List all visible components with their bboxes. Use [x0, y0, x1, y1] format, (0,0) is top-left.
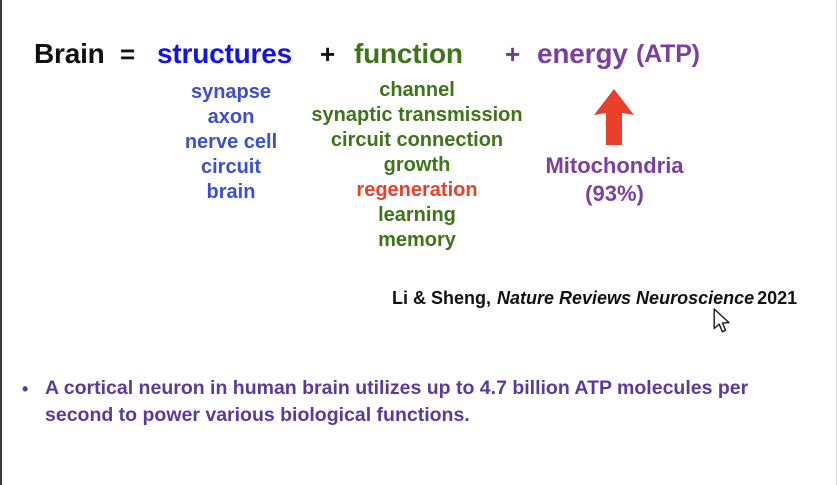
function-word: circuit connection [297, 128, 537, 153]
bullet-list: • A cortical neuron in human brain utili… [16, 375, 816, 429]
equation-term-brain: Brain [34, 38, 105, 70]
citation-year: 2021 [757, 288, 797, 308]
equation-operator-equals: = [120, 38, 135, 70]
mitochondria-block: Mitochondria (93%) [502, 152, 727, 208]
function-word: memory [297, 228, 537, 253]
equation-term-function: function [354, 38, 463, 70]
structures-word: axon [150, 105, 312, 130]
slide-canvas: Brain = structures + function + energy (… [0, 0, 837, 485]
structures-word: brain [150, 180, 312, 205]
structures-word: nerve cell [150, 130, 312, 155]
structures-word: circuit [150, 155, 312, 180]
mitochondria-percentage: (93%) [502, 180, 727, 208]
function-word: synaptic transmission [297, 103, 537, 128]
citation-journal: Nature Reviews Neuroscience [491, 288, 757, 308]
mitochondria-label: Mitochondria [502, 152, 727, 180]
equation-term-atp: (ATP) [636, 38, 700, 70]
equation-term-energy: energy [537, 38, 628, 70]
equation-row: Brain = structures + function + energy (… [2, 38, 836, 78]
bullet-marker: • [22, 376, 28, 403]
function-word-highlighted: regeneration [297, 178, 537, 203]
function-word-list: channel synaptic transmission circuit co… [297, 78, 537, 253]
up-arrow-icon [591, 88, 637, 146]
function-word: growth [297, 153, 537, 178]
equation-term-structures: structures [157, 38, 292, 70]
function-word: channel [297, 78, 537, 103]
structures-word: synapse [150, 80, 312, 105]
mouse-pointer-icon [713, 308, 731, 334]
citation-authors: Li & Sheng, [392, 288, 491, 308]
citation: Li & Sheng,Nature Reviews Neuroscience20… [392, 288, 797, 309]
bullet-text: A cortical neuron in human brain utilize… [45, 375, 816, 429]
function-word: learning [297, 203, 537, 228]
structures-word-list: synapse axon nerve cell circuit brain [150, 80, 312, 205]
equation-operator-plus-2: + [505, 38, 520, 70]
equation-operator-plus-1: + [320, 38, 335, 70]
